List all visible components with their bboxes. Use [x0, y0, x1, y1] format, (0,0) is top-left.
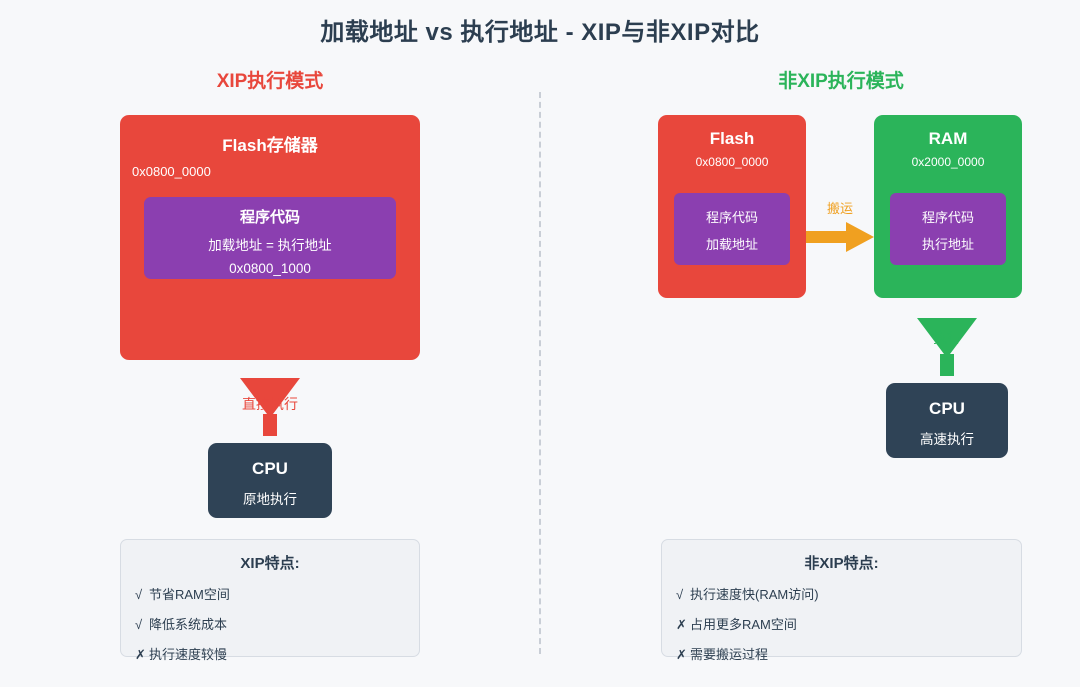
feature-item: ✗需要搬运过程 [676, 644, 1007, 663]
features-title: XIP特点: [135, 552, 405, 573]
program-code-load-address: 加载地址 [674, 234, 790, 253]
program-code-title: 程序代码 [890, 207, 1006, 226]
feature-mark-icon: √ [135, 587, 149, 602]
ram-block-title: RAM [874, 129, 1022, 149]
feature-text: 执行速度较慢 [149, 647, 227, 662]
cpu-block-non-xip: CPU 高速执行 [886, 383, 1008, 458]
feature-item: ✗执行速度较慢 [135, 644, 405, 663]
cpu-title: CPU [886, 399, 1008, 419]
direct-execute-arrow-label: 直接执行 [208, 394, 332, 414]
program-code-title: 程序代码 [144, 206, 396, 227]
feature-text: 节省RAM空间 [149, 587, 230, 602]
flash-memory-block-xip: Flash存储器 0x0800_0000 程序代码 加载地址 = 执行地址 0x… [120, 115, 420, 360]
execute-arrow-label: 执行 [887, 328, 1007, 348]
non-xip-features-panel: 非XIP特点: √执行速度快(RAM访问) ✗占用更多RAM空间 ✗需要搬运过程 [661, 539, 1022, 657]
feature-text: 需要搬运过程 [690, 647, 768, 662]
feature-mark-icon: √ [676, 587, 690, 602]
column-header-non-xip: 非XIP执行模式 [660, 66, 1022, 93]
feature-item: ✗占用更多RAM空间 [676, 614, 1007, 633]
feature-mark-icon: ✗ [676, 647, 690, 663]
feature-mark-icon: ✗ [676, 617, 690, 633]
program-code-exec-address: 执行地址 [890, 234, 1006, 253]
page-title: 加载地址 vs 执行地址 - XIP与非XIP对比 [0, 12, 1080, 47]
flash-block-address: 0x0800_0000 [658, 155, 806, 169]
feature-text: 降低系统成本 [149, 617, 227, 632]
ram-memory-block: RAM 0x2000_0000 程序代码 执行地址 [874, 115, 1022, 298]
flash-memory-block-non-xip: Flash 0x0800_0000 程序代码 加载地址 [658, 115, 806, 298]
arrow-tail [263, 414, 277, 436]
cpu-title: CPU [208, 459, 332, 479]
copy-arrow-icon [806, 222, 874, 252]
program-code-address-value: 0x0800_1000 [144, 261, 396, 276]
feature-item: √节省RAM空间 [135, 584, 405, 603]
column-divider [539, 92, 541, 654]
column-header-xip: XIP执行模式 [120, 66, 420, 93]
arrow-head [846, 222, 874, 252]
xip-features-panel: XIP特点: √节省RAM空间 √降低系统成本 ✗执行速度较慢 [120, 539, 420, 657]
program-code-title: 程序代码 [674, 207, 790, 226]
feature-mark-icon: √ [135, 617, 149, 632]
feature-item: √执行速度快(RAM访问) [676, 584, 1007, 603]
program-code-region-flash: 程序代码 加载地址 [674, 193, 790, 265]
program-code-region-ram: 程序代码 执行地址 [890, 193, 1006, 265]
copy-arrow-label: 搬运 [806, 198, 874, 217]
features-title: 非XIP特点: [676, 552, 1007, 573]
cpu-subtitle: 高速执行 [886, 428, 1008, 448]
ram-block-address: 0x2000_0000 [874, 155, 1022, 169]
flash-block-title: Flash存储器 [120, 131, 420, 156]
program-code-region-xip: 程序代码 加载地址 = 执行地址 0x0800_1000 [144, 197, 396, 279]
feature-text: 执行速度快(RAM访问) [690, 587, 819, 602]
feature-mark-icon: ✗ [135, 647, 149, 663]
cpu-subtitle: 原地执行 [208, 488, 332, 508]
arrow-shaft [806, 231, 850, 243]
cpu-block-xip: CPU 原地执行 [208, 443, 332, 518]
feature-text: 占用更多RAM空间 [690, 617, 797, 632]
diagram-canvas: 加载地址 vs 执行地址 - XIP与非XIP对比 XIP执行模式 非XIP执行… [0, 0, 1080, 687]
arrow-tail [940, 354, 954, 376]
feature-item: √降低系统成本 [135, 614, 405, 633]
flash-block-address: 0x0800_0000 [132, 164, 420, 179]
flash-block-title: Flash [658, 129, 806, 149]
program-code-address-relation: 加载地址 = 执行地址 [144, 234, 396, 254]
